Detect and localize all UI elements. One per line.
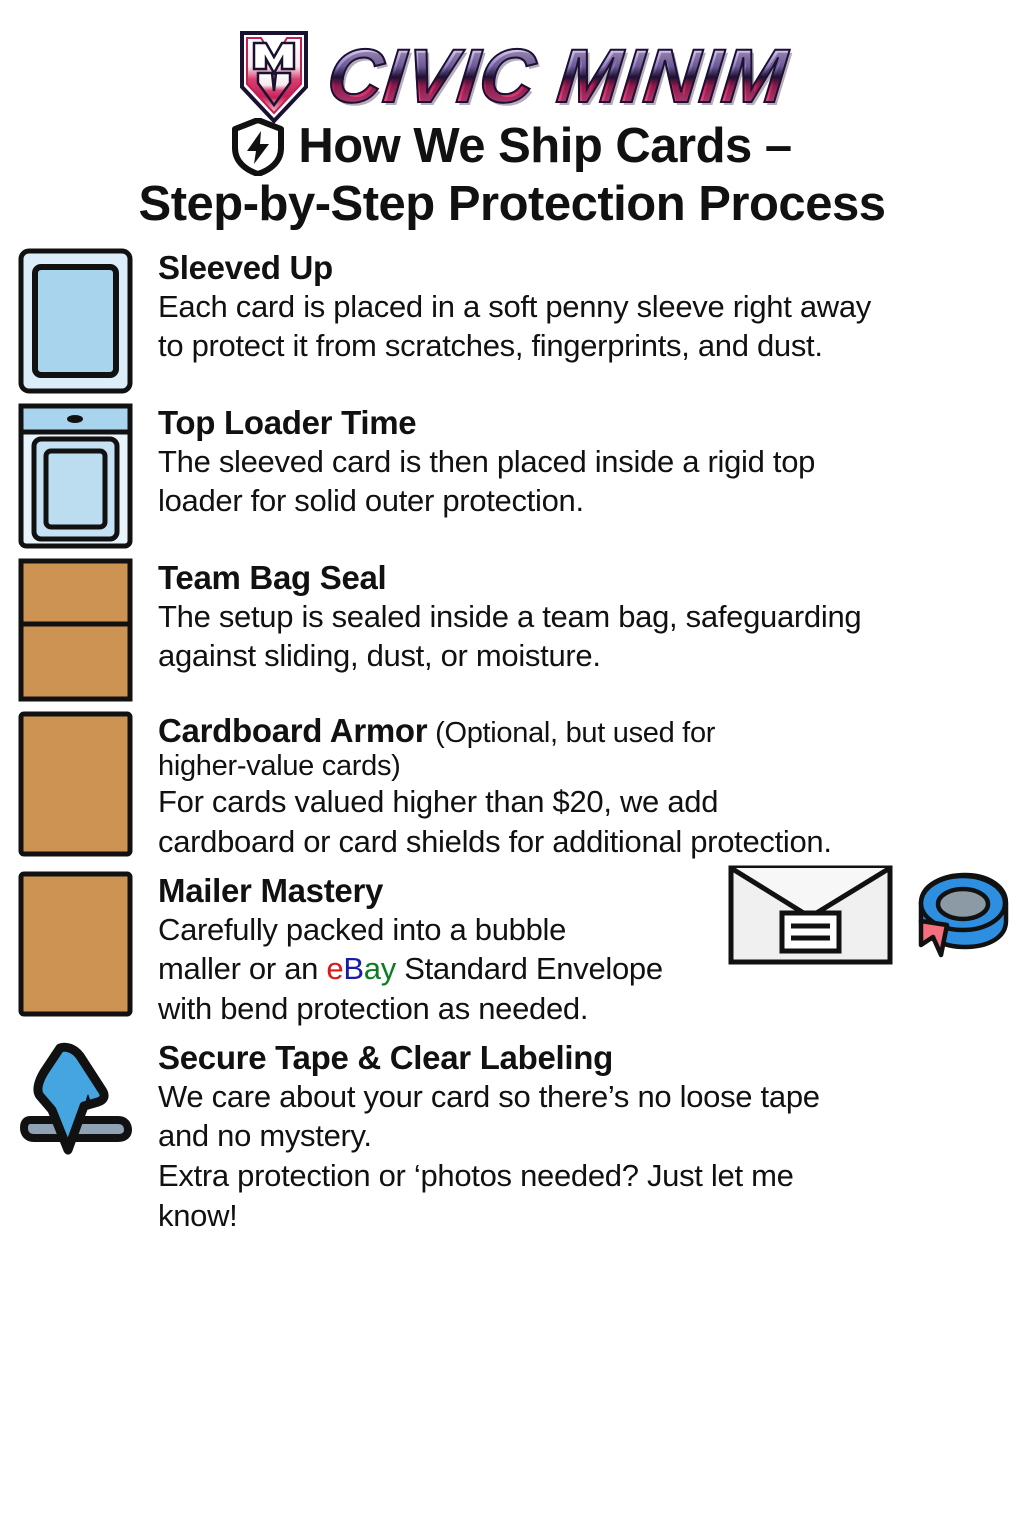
- desc-text-post: Standard Envelope: [396, 951, 663, 986]
- step-secure-tape: Secure Tape & Clear Labeling We care abo…: [18, 1038, 1006, 1236]
- step-title-main: Cardboard Armor: [158, 712, 427, 749]
- step-icon-wrap: [18, 558, 140, 702]
- step-icon-wrap: [18, 871, 140, 1017]
- desc-line: The setup is sealed inside a team bag, s…: [158, 597, 1006, 637]
- desc-line: and no mystery.: [158, 1116, 1006, 1156]
- desc-line: to protect it from scratches, fingerprin…: [158, 326, 1006, 366]
- cardboard-armor-icon: [18, 711, 133, 857]
- step-icon-wrap: [18, 711, 140, 857]
- step-icon-wrap: [18, 248, 140, 394]
- step-title: Team Bag Seal: [158, 560, 1006, 597]
- desc-line: with bend protection as needed.: [158, 989, 1006, 1029]
- page-title: How We Ship Cards – Step-by-Step Protect…: [0, 110, 1024, 234]
- step-description: The sleeved card is then placed inside a…: [158, 442, 1006, 521]
- desc-line: Extra protection or ‘photos needed? Just…: [158, 1156, 1006, 1196]
- title-line-1: How We Ship Cards –: [298, 121, 791, 172]
- step-title: Sleeved Up: [158, 250, 1006, 287]
- desc-line: know!: [158, 1196, 1006, 1236]
- step-body: Mailer Mastery Carefully packed into a b…: [158, 871, 1006, 1029]
- ebay-letter-e: e: [326, 951, 343, 986]
- step-title: Secure Tape & Clear Labeling: [158, 1040, 1006, 1077]
- ebay-letter-a: a: [364, 951, 381, 986]
- desc-line: Each card is placed in a soft penny slee…: [158, 287, 1006, 327]
- step-body: Top Loader Time The sleeved card is then…: [158, 403, 1006, 521]
- title-line-2: Step-by-Step Protection Process: [30, 176, 994, 234]
- step-body: Cardboard Armor (Optional, but used for …: [158, 711, 1006, 862]
- step-description: Each card is placed in a soft penny slee…: [158, 287, 1006, 366]
- step-body: Sleeved Up Each card is placed in a soft…: [158, 248, 1006, 366]
- step-body: Secure Tape & Clear Labeling We care abo…: [158, 1038, 1006, 1236]
- desc-line: against sliding, dust, or moisture.: [158, 636, 1006, 676]
- shield-m-emblem-icon: [238, 29, 310, 125]
- top-loader-icon: [18, 403, 133, 549]
- desc-line: cardboard or card shields for additional…: [158, 822, 1006, 862]
- step-title-note-line2: higher-value cards): [158, 750, 1006, 782]
- step-title-note: (Optional, but used for: [427, 717, 715, 749]
- mailer-extra-icons: [728, 865, 1012, 965]
- shield-bolt-icon: [232, 118, 284, 176]
- brand-logo: CIVIC MINIM: [0, 0, 1024, 110]
- tape-roll-icon: [907, 865, 1012, 965]
- ebay-letter-b: B: [343, 951, 363, 986]
- step-sleeved-up: Sleeved Up Each card is placed in a soft…: [18, 248, 1006, 394]
- step-icon-wrap: [18, 403, 140, 549]
- ebay-logo-text: eBay: [326, 951, 396, 986]
- step-cardboard-armor: Cardboard Armor (Optional, but used for …: [18, 711, 1006, 862]
- steps-list: Sleeved Up Each card is placed in a soft…: [0, 234, 1024, 1235]
- step-description: We care about your card so there’s no lo…: [158, 1077, 1006, 1236]
- desc-line: We care about your card so there’s no lo…: [158, 1077, 1006, 1117]
- step-title: Top Loader Time: [158, 405, 1006, 442]
- desc-line: The sleeved card is then placed inside a…: [158, 442, 1006, 482]
- desc-line: For cards valued higher than $20, we add: [158, 782, 1006, 822]
- penny-sleeve-icon: [18, 248, 133, 394]
- tape-dispenser-icon: [18, 1038, 138, 1163]
- desc-line: loader for solid outer protection.: [158, 481, 1006, 521]
- step-description: For cards valued higher than $20, we add…: [158, 782, 1006, 861]
- desc-text-pre: maller or an: [158, 951, 326, 986]
- step-icon-wrap: [18, 1038, 140, 1163]
- ebay-letter-y: y: [381, 951, 396, 986]
- step-top-loader: Top Loader Time The sleeved card is then…: [18, 403, 1006, 549]
- step-title: Cardboard Armor (Optional, but used for: [158, 713, 1006, 750]
- step-body: Team Bag Seal The setup is sealed inside…: [158, 558, 1006, 676]
- mailer-icon: [18, 871, 133, 1017]
- step-team-bag: Team Bag Seal The setup is sealed inside…: [18, 558, 1006, 702]
- envelope-icon: [728, 865, 893, 965]
- brand-wordmark: CIVIC MINIM: [324, 39, 791, 115]
- team-bag-icon: [18, 558, 133, 702]
- step-mailer-mastery: Mailer Mastery Carefully packed into a b…: [18, 871, 1006, 1029]
- step-description: The setup is sealed inside a team bag, s…: [158, 597, 1006, 676]
